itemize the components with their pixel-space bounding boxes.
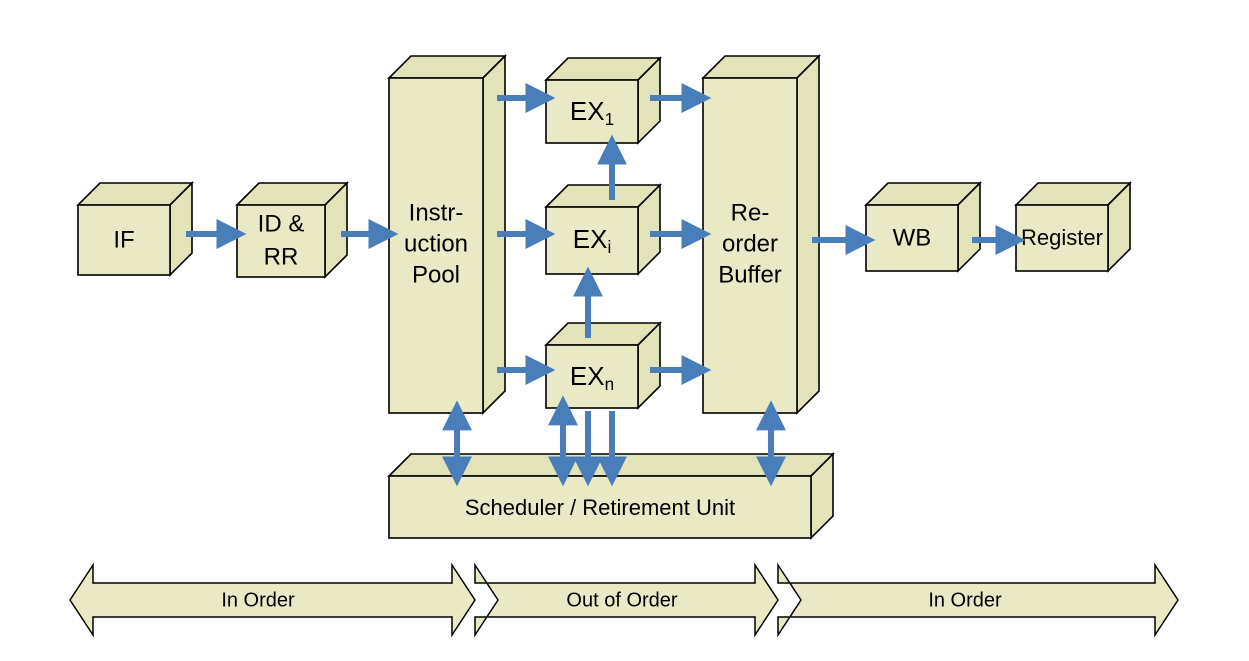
band-in-order-right-label: In Order — [928, 589, 1002, 611]
box-ex-1[interactable]: EX1 — [546, 58, 660, 143]
box-reorder-buffer-label-line2: order — [722, 230, 778, 257]
box-wb-label: WB — [893, 224, 932, 251]
box-id-rr-label-line1: ID & — [258, 210, 305, 237]
pipeline-diagram: IF ID & RR Instr- uction Pool EX1 EXi — [0, 0, 1249, 661]
box-reorder-buffer-side — [797, 56, 819, 413]
box-if[interactable]: IF — [78, 183, 192, 275]
box-instruction-pool-label-line1: Instr- — [409, 199, 464, 226]
box-ex-i[interactable]: EXi — [546, 185, 660, 274]
box-scheduler-label: Scheduler / Retirement Unit — [465, 495, 735, 520]
band-out-of-order-label: Out of Order — [566, 589, 677, 611]
box-if-label: IF — [113, 226, 134, 253]
box-register[interactable]: Register — [1016, 183, 1130, 271]
box-reorder-buffer[interactable]: Re- order Buffer — [703, 56, 819, 413]
box-reorder-buffer-label-line1: Re- — [731, 199, 770, 226]
box-instruction-pool-label-line3: Pool — [412, 261, 460, 288]
diagram-canvas: IF ID & RR Instr- uction Pool EX1 EXi — [0, 0, 1249, 661]
box-instruction-pool[interactable]: Instr- uction Pool — [389, 56, 505, 413]
box-reorder-buffer-label-line3: Buffer — [718, 261, 782, 288]
box-id-rr[interactable]: ID & RR — [237, 183, 347, 277]
band-in-order-left-label: In Order — [221, 589, 295, 611]
box-id-rr-label-line2: RR — [264, 243, 299, 270]
box-register-label: Register — [1021, 225, 1103, 250]
box-instruction-pool-label-line2: uction — [404, 230, 468, 257]
box-ex-n[interactable]: EXn — [546, 323, 660, 408]
box-wb[interactable]: WB — [866, 183, 980, 271]
box-ex-i-label: EXi — [573, 224, 612, 257]
